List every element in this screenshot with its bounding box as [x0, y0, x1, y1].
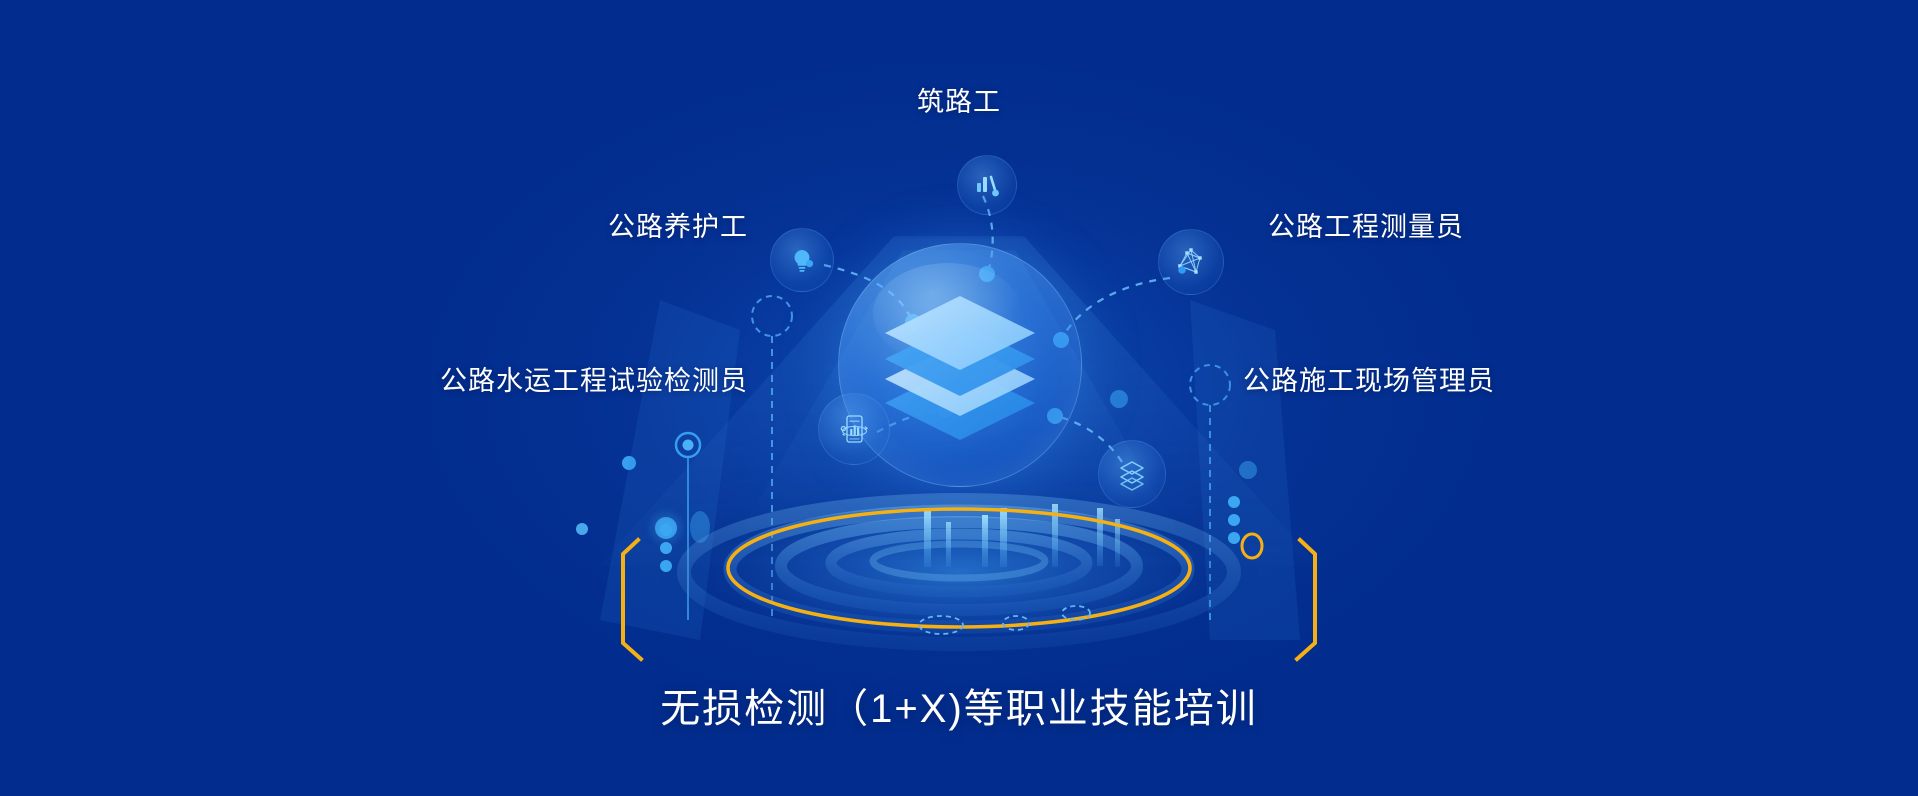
infographic-canvas: 筑路工 公路养护工 公路水运工程试验检测员 公路工程测量员 公路施工现场管理员 — [0, 0, 1918, 796]
bracket-right-icon — [1297, 540, 1315, 659]
page-title: 无损检测（1+X)等职业技能培训 — [0, 676, 1918, 734]
bracket-left-icon — [623, 540, 641, 659]
